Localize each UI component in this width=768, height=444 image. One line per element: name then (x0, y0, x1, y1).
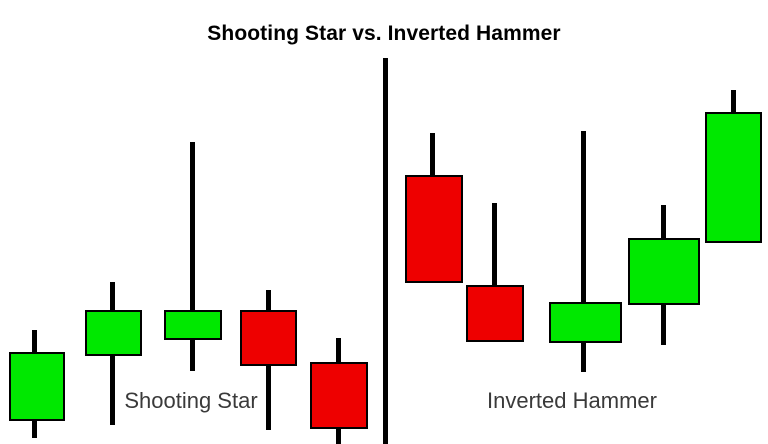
candle-body-up (164, 310, 222, 340)
candle-body-up (628, 238, 700, 305)
candle-body-down (240, 310, 297, 366)
panel-label-shooting-star: Shooting Star (41, 388, 341, 414)
panel-label-inverted-hammer: Inverted Hammer (422, 388, 722, 414)
candlestick-chart: Shooting Star vs. Inverted Hammer Shooti… (0, 0, 768, 444)
candle-body-down (405, 175, 463, 283)
panel-divider (383, 58, 388, 444)
candle-body-up (549, 302, 622, 343)
candle-body-down (466, 285, 524, 342)
page-title: Shooting Star vs. Inverted Hammer (0, 22, 768, 46)
candle-body-up (85, 310, 142, 356)
candle-body-up (705, 112, 762, 243)
